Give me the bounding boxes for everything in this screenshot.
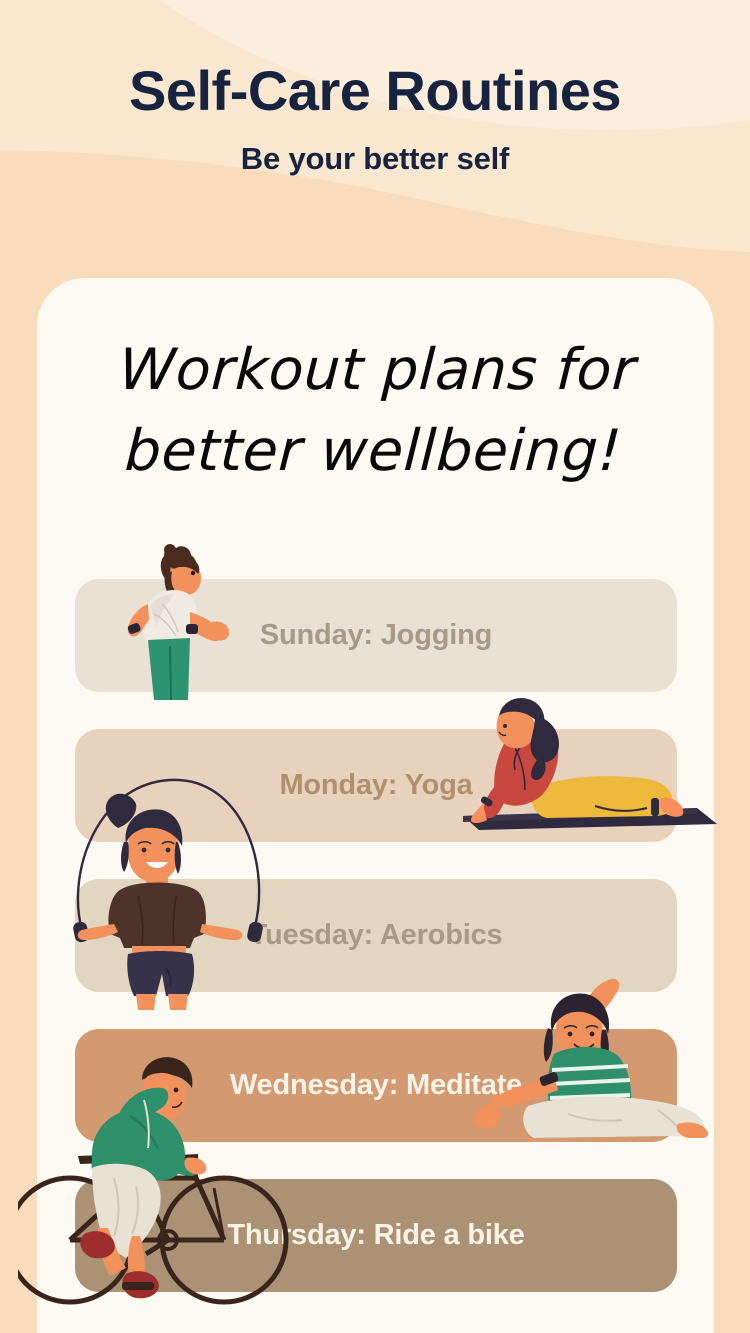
routine-row-thursday[interactable]: Thursday: Ride a bike bbox=[75, 1179, 677, 1292]
headline-line-1: Workout plans for bbox=[37, 330, 718, 411]
routine-row-sunday[interactable]: Sunday: Jogging bbox=[75, 579, 677, 692]
routine-row-tuesday[interactable]: Tuesday: Aerobics bbox=[75, 879, 677, 992]
card-headline: Workout plans for better wellbeing! bbox=[33, 330, 718, 492]
routine-label-tuesday: Tuesday: Aerobics bbox=[250, 919, 503, 952]
routine-label-sunday: Sunday: Jogging bbox=[260, 619, 492, 652]
routine-label-wednesday: Wednesday: Meditate bbox=[230, 1069, 522, 1102]
routine-row-monday[interactable]: Monday: Yoga bbox=[75, 729, 677, 842]
routine-list: Sunday: Jogging Monday: Yoga Tuesday: Ae… bbox=[0, 0, 750, 1333]
routine-label-monday: Monday: Yoga bbox=[279, 769, 472, 802]
headline-line-2: better wellbeing! bbox=[33, 411, 714, 492]
routine-row-wednesday[interactable]: Wednesday: Meditate bbox=[75, 1029, 677, 1142]
page-title: Self-Care Routines bbox=[0, 0, 750, 121]
page-subtitle: Be your better self bbox=[0, 121, 750, 177]
poster-header: Self-Care Routines Be your better self bbox=[0, 0, 750, 177]
poster-canvas: Self-Care Routines Be your better self W… bbox=[0, 0, 750, 1333]
routine-label-thursday: Thursday: Ride a bike bbox=[227, 1219, 524, 1252]
